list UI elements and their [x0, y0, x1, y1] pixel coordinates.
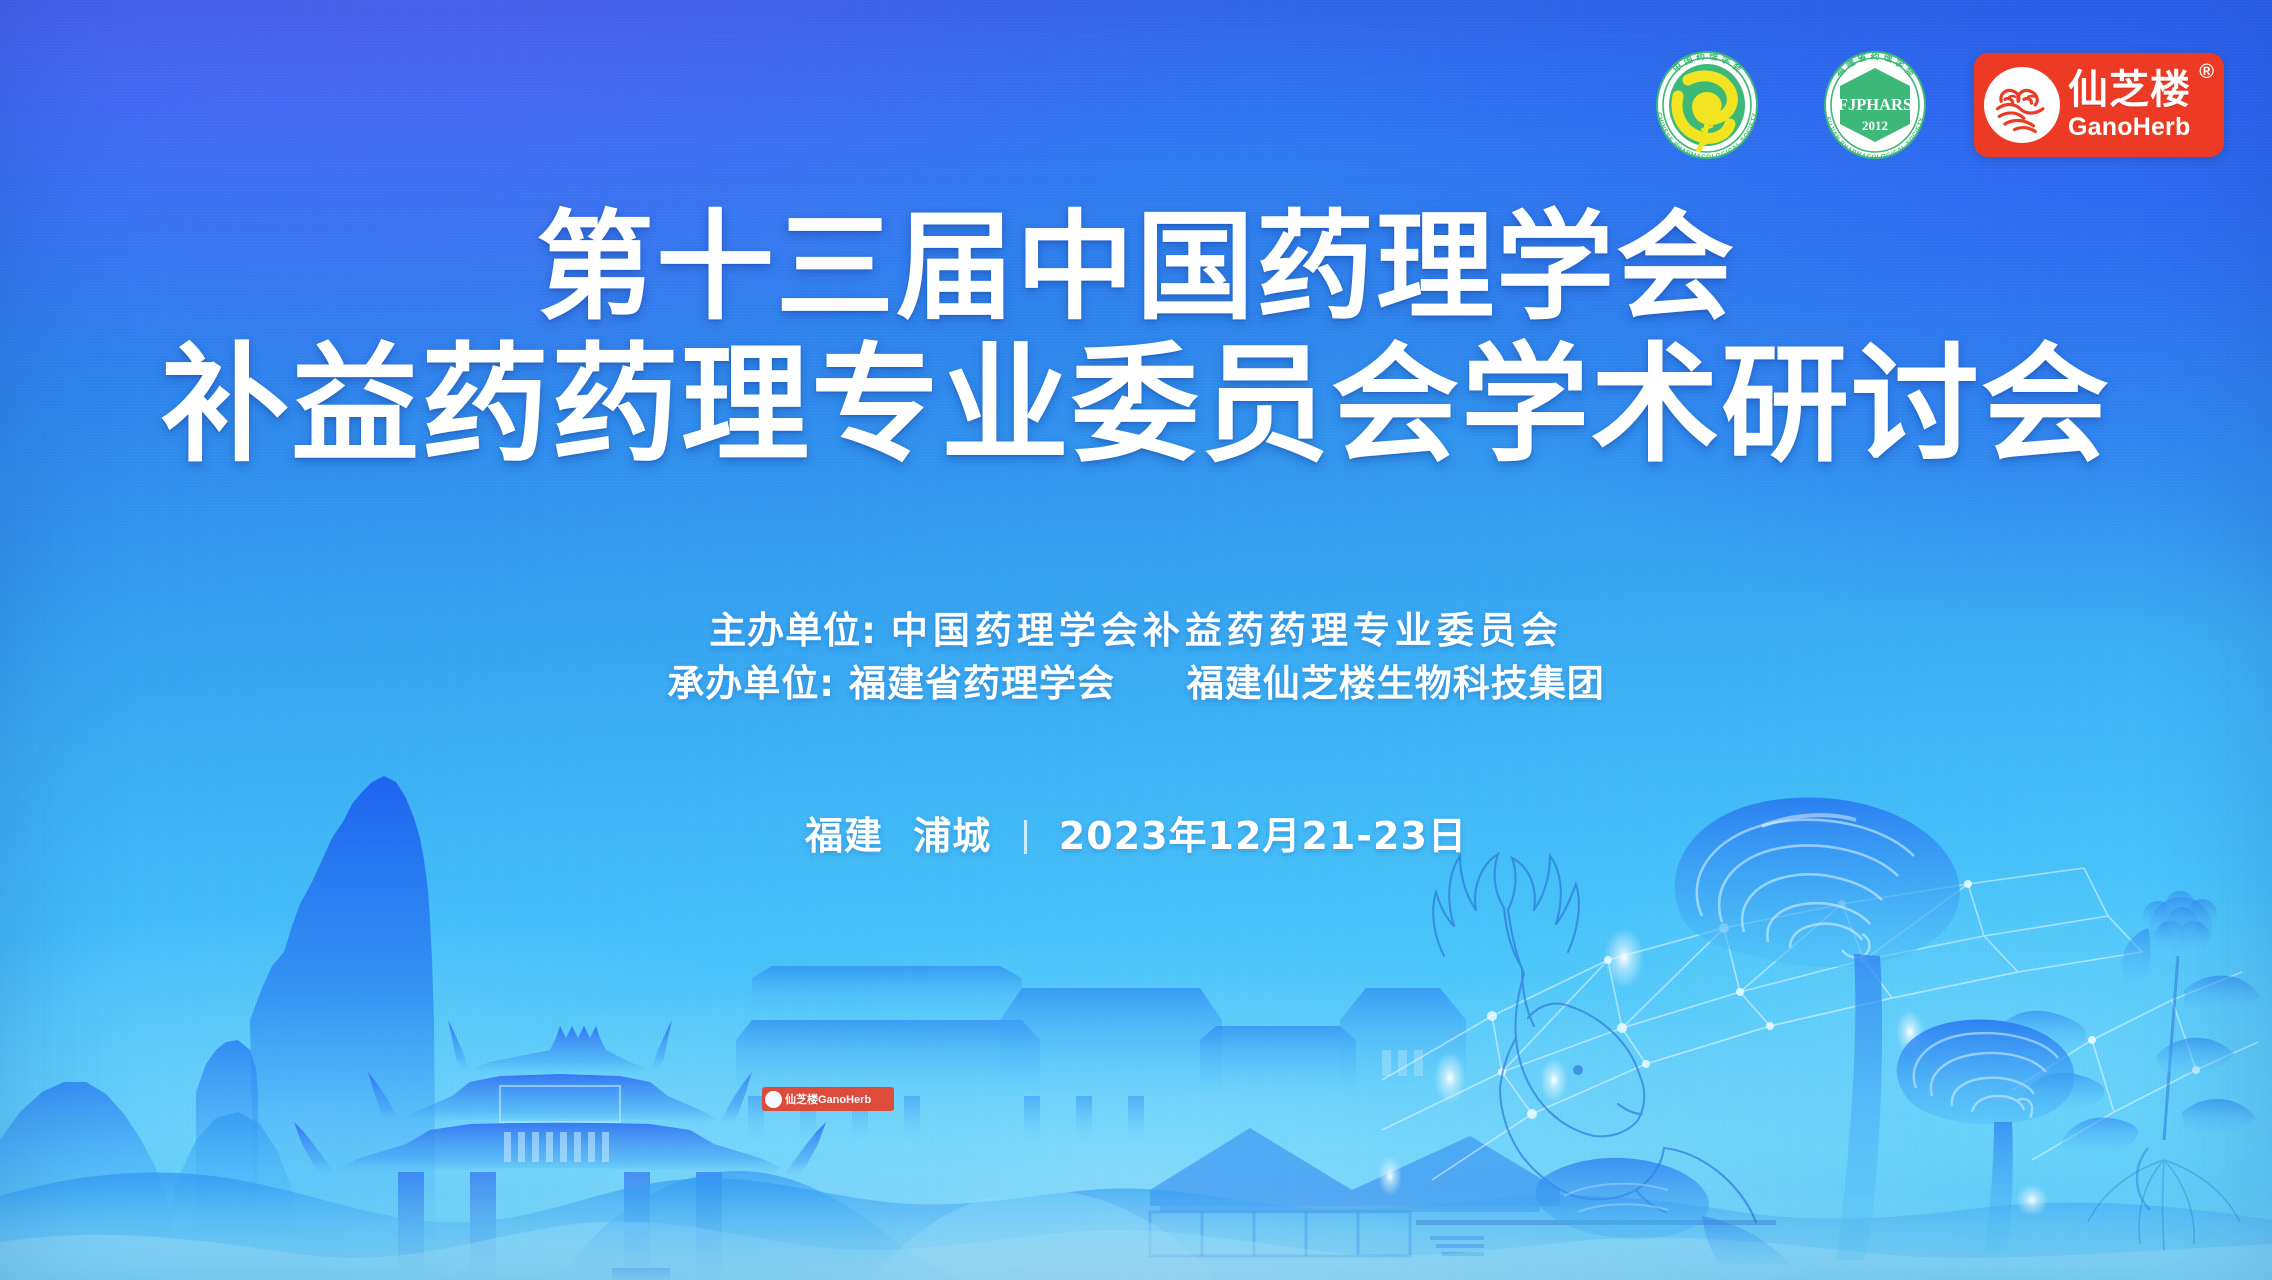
svg-text:FJPHARS: FJPHARS [1838, 95, 1912, 114]
banner-root: 仙芝楼GanoHerb [0, 0, 2272, 1280]
svg-text:2012: 2012 [1862, 118, 1888, 133]
chinese-pharmacological-society-seal: 中 国 药 理 学 会 CHINESE PHARMACOLOGICAL SOCI… [1638, 36, 1776, 174]
fujian-pharmacological-society-seal: FJPHARS 2012 福 建 省 药 理 学 会 FUJIAN PHARMA… [1806, 36, 1944, 174]
ganoherb-emblem-icon [1984, 67, 2060, 143]
factory-sign-mark [765, 1091, 782, 1108]
ganoherb-en-name: GanoHerb [2068, 115, 2191, 140]
factory-ganoherb-sign: 仙芝楼GanoHerb [762, 1087, 894, 1111]
factory-sign-label: 仙芝楼GanoHerb [785, 1091, 871, 1107]
ganoherb-logo: 仙芝楼 GanoHerb ® [1974, 53, 2224, 157]
registered-mark-icon: ® [2199, 61, 2214, 84]
background-gradient [0, 0, 2272, 1280]
ganoherb-text: 仙芝楼 GanoHerb [2068, 70, 2191, 140]
logo-row: 中 国 药 理 学 会 CHINESE PHARMACOLOGICAL SOCI… [1638, 36, 2224, 174]
ganoherb-cn-name: 仙芝楼 [2068, 70, 2191, 110]
